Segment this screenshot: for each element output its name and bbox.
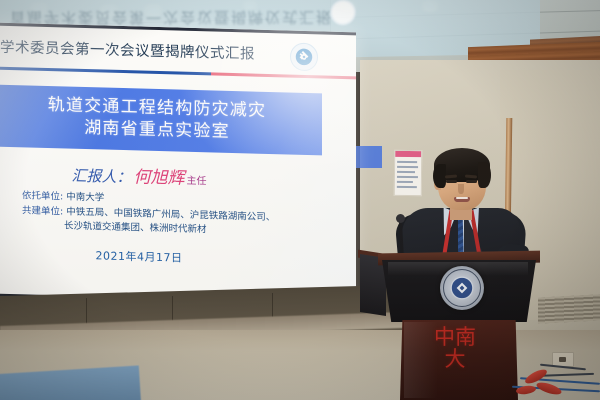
csu-emblem-logo	[290, 43, 318, 72]
wall-vent	[538, 294, 600, 323]
affiliation-label: 共建单位:	[22, 205, 63, 217]
slide-header-text: 首届学术委员会第一次会议暨揭牌仪式汇报	[0, 35, 255, 64]
affiliation-value: 长沙轨道交通集团、株洲时代新材	[64, 221, 207, 236]
csu-podium-emblem	[440, 266, 484, 310]
affiliation-value: 中南大学	[66, 191, 104, 203]
nose	[458, 184, 464, 194]
slide-title-band: 轨道交通工程结构防灾减灾 湖南省重点实验室	[0, 84, 322, 155]
podium-calligraphy: 中南大	[430, 326, 480, 370]
conference-photo: 首届学术委员会第一次会议暨揭牌仪式汇报 首届学术委员会第一次会议暨揭牌仪式汇报	[0, 0, 600, 400]
slide-date: 2021年4月17日	[0, 244, 304, 269]
slide-title-line2: 湖南省重点实验室	[84, 117, 230, 144]
podium: 中南大	[378, 252, 540, 400]
eye-right	[466, 180, 477, 183]
microphone-head	[396, 214, 405, 223]
slide-title-line1: 轨道交通工程结构防灾减灾	[48, 95, 266, 122]
presenter-label: 汇报人：	[71, 167, 131, 187]
wall-blue-panel	[356, 146, 382, 168]
eye-left	[446, 180, 457, 183]
presenter-role: 主任	[187, 176, 207, 188]
slide-affiliations: 依托单位: 中南大学 共建单位: 中铁五局、中国铁路广州局、沪昆铁路湖南公司、 …	[22, 189, 352, 242]
mouth	[454, 197, 470, 202]
projection-screen: 首届学术委员会第一次会议暨揭牌仪式汇报 轨道交通工程结构防灾减灾 湖南省重点实验…	[0, 22, 356, 308]
slide-presenter-line: 汇报人：何旭辉主任	[0, 158, 304, 192]
affiliation-label: 依托单位:	[22, 190, 63, 202]
hair-sideburn-right	[478, 162, 491, 188]
presenter-name: 何旭辉	[132, 167, 187, 188]
